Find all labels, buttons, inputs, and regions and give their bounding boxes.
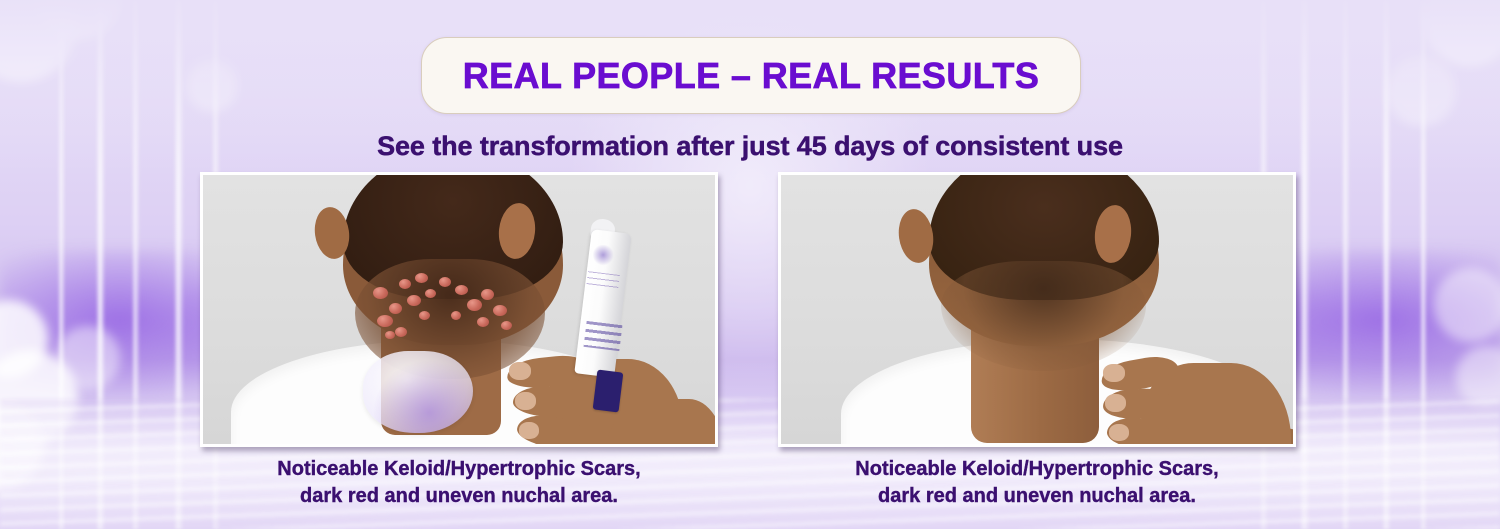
promo-banner: REAL PEOPLE – REAL RESULTS See the trans… (0, 0, 1500, 529)
before-photo-panel (200, 172, 718, 447)
fingernail (1109, 424, 1129, 441)
headline-pill: REAL PEOPLE – REAL RESULTS (421, 37, 1081, 114)
fingernail (519, 422, 539, 439)
subtitle-text: See the transformation after just 45 day… (0, 131, 1500, 162)
after-caption-line2: dark red and uneven nuchal area. (777, 483, 1297, 510)
before-caption-line1: Noticeable Keloid/Hypertrophic Scars, (277, 458, 640, 480)
after-caption-line1: Noticeable Keloid/Hypertrophic Scars, (855, 458, 1218, 480)
bokeh-circle (1434, 268, 1500, 342)
tube-cap (593, 370, 624, 413)
tube-label-text (584, 321, 623, 351)
fingernail (509, 362, 531, 380)
before-photo-image (203, 175, 715, 444)
palm (605, 399, 715, 444)
before-caption-line2: dark red and uneven nuchal area. (199, 483, 719, 510)
after-photo-panel (778, 172, 1296, 447)
applied-cream-patch (363, 351, 473, 433)
before-caption: Noticeable Keloid/Hypertrophic Scars, da… (199, 456, 719, 509)
bokeh-circle (56, 326, 120, 390)
after-photo-image (781, 175, 1293, 444)
fingernail (1105, 394, 1126, 412)
resting-hand (1081, 333, 1281, 444)
after-caption: Noticeable Keloid/Hypertrophic Scars, da… (777, 456, 1297, 509)
fingernail (515, 392, 536, 410)
headline-text: REAL PEOPLE – REAL RESULTS (463, 55, 1040, 97)
tube-logo (590, 244, 617, 269)
fingernail (1103, 364, 1125, 382)
